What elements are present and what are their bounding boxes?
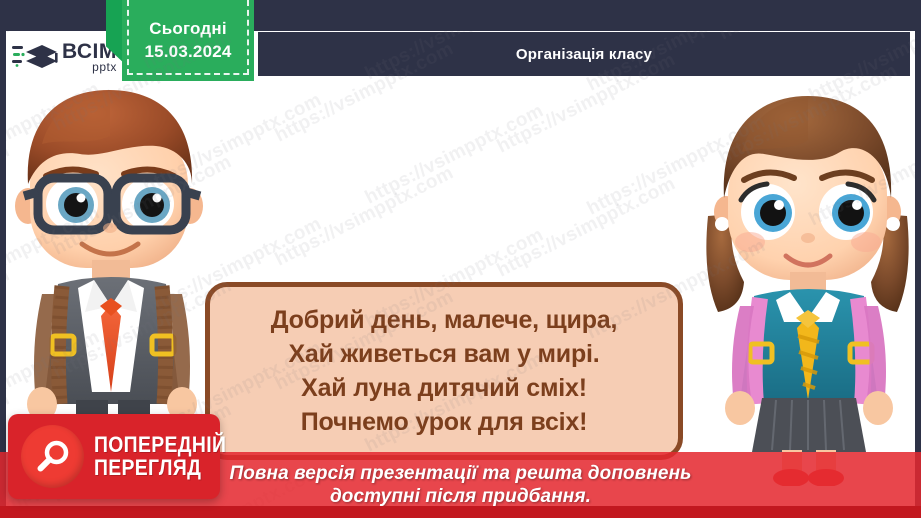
date-label: Сьогодні	[149, 19, 227, 39]
slide-root: Добрий день, малече, щира, Хай живеться …	[0, 0, 921, 518]
notice-line-1: Повна версія презентації та решта доповн…	[229, 463, 691, 485]
preview-label-line-1: ПОПЕРЕДНІЙ	[94, 434, 226, 456]
preview-icon-circle	[21, 425, 84, 488]
poem-textbox: Добрий день, малече, щира, Хай живеться …	[205, 282, 683, 460]
poem-line-4: Почнемо урок для всіх!	[222, 405, 666, 439]
preview-badge[interactable]: ПОПЕРЕДНІЙ ПЕРЕГЛЯД	[8, 414, 220, 499]
badge-body: Сьогодні 15.03.2024	[122, 0, 254, 81]
magnifying-glass-icon	[35, 439, 71, 475]
slide-header-bar: Організація класу	[258, 32, 910, 76]
bottom-accent-strip	[0, 506, 921, 518]
date-value: 15.03.2024	[144, 42, 231, 62]
preview-label-line-2: ПЕРЕГЛЯД	[94, 457, 226, 479]
character-schoolgirl	[700, 96, 915, 486]
poem-line-3: Хай луна дитячий сміх!	[222, 371, 666, 405]
notice-line-2: доступні після придбання.	[330, 486, 591, 508]
poem-line-1: Добрий день, малече, щира,	[222, 303, 666, 337]
page-title: Організація класу	[516, 46, 652, 63]
graduation-cap-icon	[12, 40, 58, 74]
poem-line-2: Хай живеться вам у мирі.	[222, 337, 666, 371]
character-schoolboy	[6, 88, 220, 468]
